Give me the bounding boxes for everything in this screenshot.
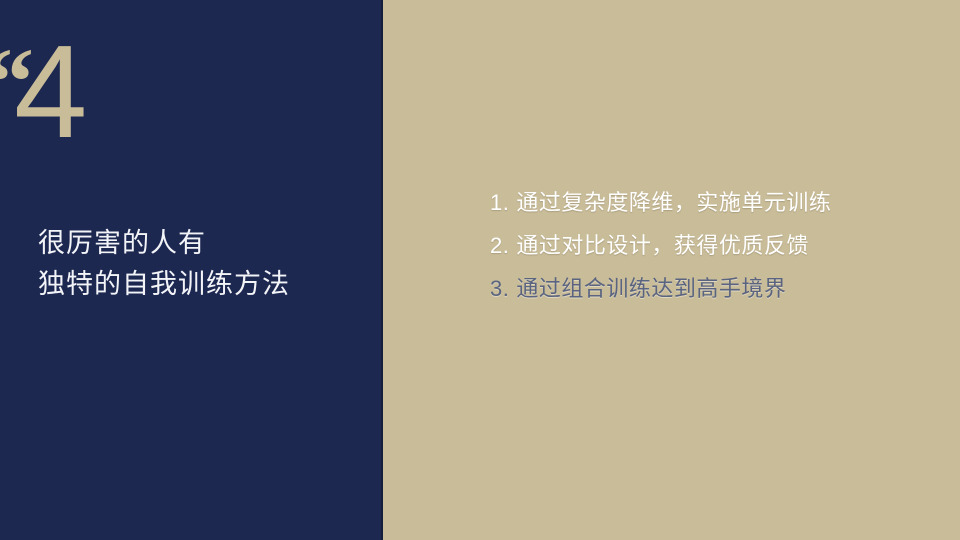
list-item: 1. 通过复杂度降维，实施单元训练 [490, 192, 940, 235]
list-item-label: 通过复杂度降维，实施单元训练 [516, 192, 831, 214]
list-item-index: 3. [490, 278, 509, 300]
list-item: 2. 通过对比设计，获得优质反馈 [490, 235, 940, 278]
list-item-index: 1. [490, 192, 509, 214]
headline-line-1: 很厉害的人有 [38, 223, 368, 264]
slide-headline: 很厉害的人有 独特的自我训练方法 [38, 223, 368, 305]
headline-line-2: 独特的自我训练方法 [38, 264, 368, 305]
key-points-list: 1. 通过复杂度降维，实施单元训练 2. 通过对比设计，获得优质反馈 3. 通过… [490, 192, 940, 321]
section-number: 4 [14, 26, 87, 158]
list-item: 3. 通过组合训练达到高手境界 [490, 278, 940, 321]
list-item-index: 2. [490, 235, 509, 257]
presentation-slide: “ 4 很厉害的人有 独特的自我训练方法 1. 通过复杂度降维，实施单元训练 2… [0, 0, 960, 540]
left-title-panel: “ 4 很厉害的人有 独特的自我训练方法 [0, 0, 381, 540]
right-content-panel: 1. 通过复杂度降维，实施单元训练 2. 通过对比设计，获得优质反馈 3. 通过… [383, 0, 960, 540]
list-item-label: 通过对比设计，获得优质反馈 [516, 235, 809, 257]
list-item-label: 通过组合训练达到高手境界 [516, 278, 786, 300]
